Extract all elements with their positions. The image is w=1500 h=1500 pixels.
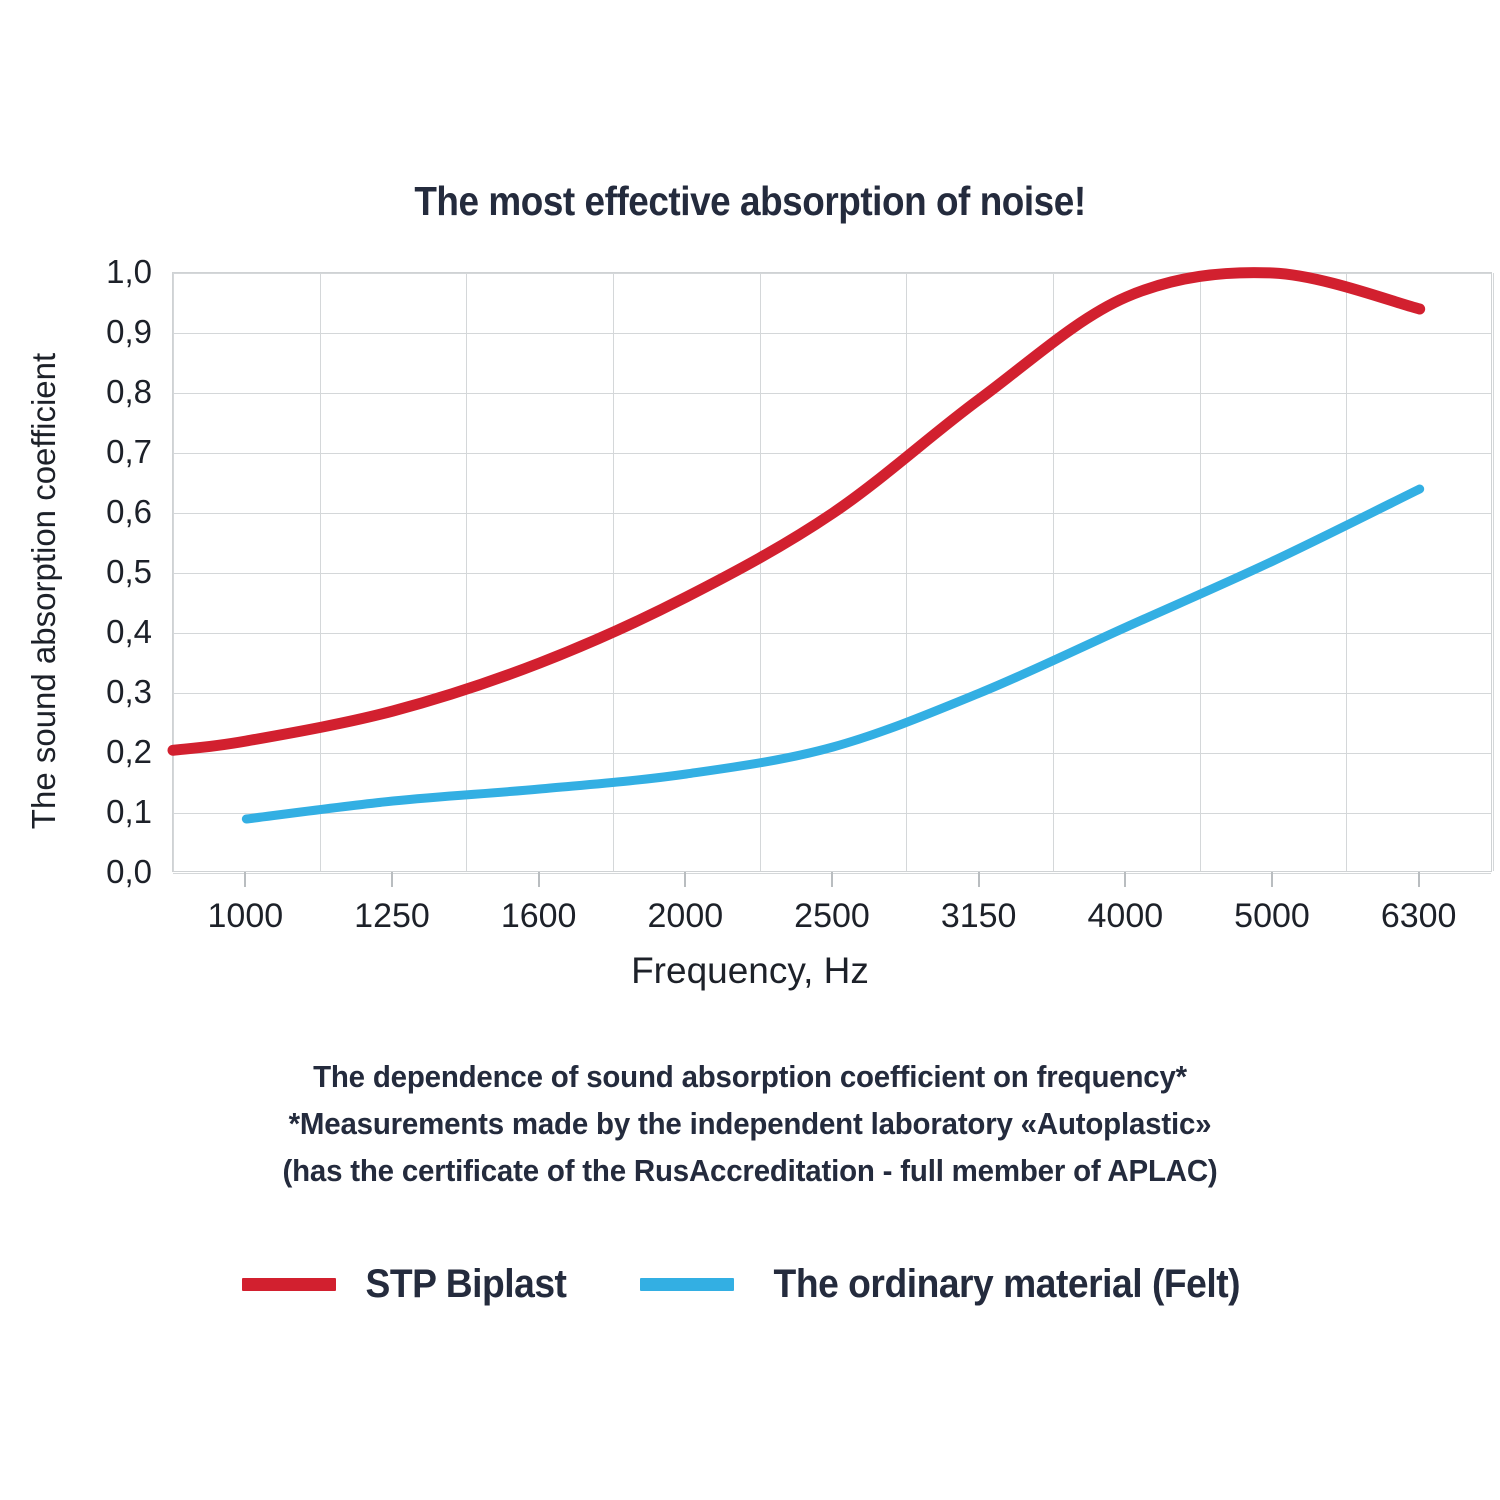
y-axis-tick-label: 0,3 — [32, 673, 152, 711]
x-axis-tick-mark — [1271, 872, 1273, 887]
y-axis-tick-label: 0,6 — [32, 493, 152, 531]
legend-entry-ordinary-material[interactable]: The ordinary material (Felt) — [640, 1262, 1258, 1307]
x-axis-tick-label: 3150 — [894, 897, 1064, 936]
x-axis-tick-label: 2500 — [747, 897, 917, 936]
y-axis-tick-label: 0,5 — [32, 553, 152, 591]
chart-container: The most effective absorption of noise! … — [0, 0, 1500, 1500]
x-axis-tick-mark — [831, 872, 833, 887]
x-axis-tick-mark — [391, 872, 393, 887]
caption-line-1: The dependence of sound absorption coeff… — [38, 1053, 1463, 1100]
y-axis-tick-label: 1,0 — [32, 253, 152, 291]
y-axis-tick-label: 0,4 — [32, 613, 152, 651]
x-axis-tick-mark — [1124, 872, 1126, 887]
chart-legend: STP Biplast The ordinary material (Felt) — [0, 1262, 1500, 1307]
x-axis-tick-label: 1250 — [307, 897, 477, 936]
legend-label: STP Biplast — [366, 1262, 567, 1307]
x-axis-title: Frequency, Hz — [0, 950, 1500, 992]
x-axis-tick-label: 1600 — [454, 897, 624, 936]
x-axis-tick-mark — [978, 872, 980, 887]
legend-swatch-icon — [242, 1278, 336, 1291]
x-axis-tick-mark — [684, 872, 686, 887]
y-axis-tick-label: 0,2 — [32, 733, 152, 771]
x-axis-tick-label: 2000 — [600, 897, 770, 936]
legend-entry-stp-biplast[interactable]: STP Biplast — [242, 1262, 574, 1307]
y-axis-tick-label: 0,1 — [32, 793, 152, 831]
caption-line-2: *Measurements made by the independent la… — [38, 1100, 1463, 1147]
gridline-vertical — [1493, 273, 1494, 871]
x-axis-tick-label: 6300 — [1334, 897, 1500, 936]
y-axis-tick-label: 0,9 — [32, 313, 152, 351]
plot-area — [172, 272, 1492, 872]
series-line-stp-biplast — [173, 273, 1420, 751]
chart-title: The most effective absorption of noise! — [75, 178, 1425, 225]
caption-line-3: (has the certificate of the RusAccredita… — [38, 1147, 1463, 1194]
x-axis-tick-mark — [1418, 872, 1420, 887]
data-curves — [173, 273, 1493, 873]
x-axis-tick-label: 1000 — [160, 897, 330, 936]
x-axis-tick-label: 4000 — [1040, 897, 1210, 936]
x-axis-tick-mark — [244, 872, 246, 887]
y-axis-tick-label: 0,7 — [32, 433, 152, 471]
x-axis-tick-mark — [538, 872, 540, 887]
y-axis-tick-label: 0,8 — [32, 373, 152, 411]
series-line-felt — [246, 489, 1419, 819]
legend-label: The ordinary material (Felt) — [774, 1262, 1241, 1307]
y-axis-tick-label: 0,0 — [32, 853, 152, 891]
chart-caption: The dependence of sound absorption coeff… — [0, 1053, 1500, 1194]
x-axis-tick-label: 5000 — [1187, 897, 1357, 936]
legend-swatch-icon — [640, 1278, 734, 1291]
